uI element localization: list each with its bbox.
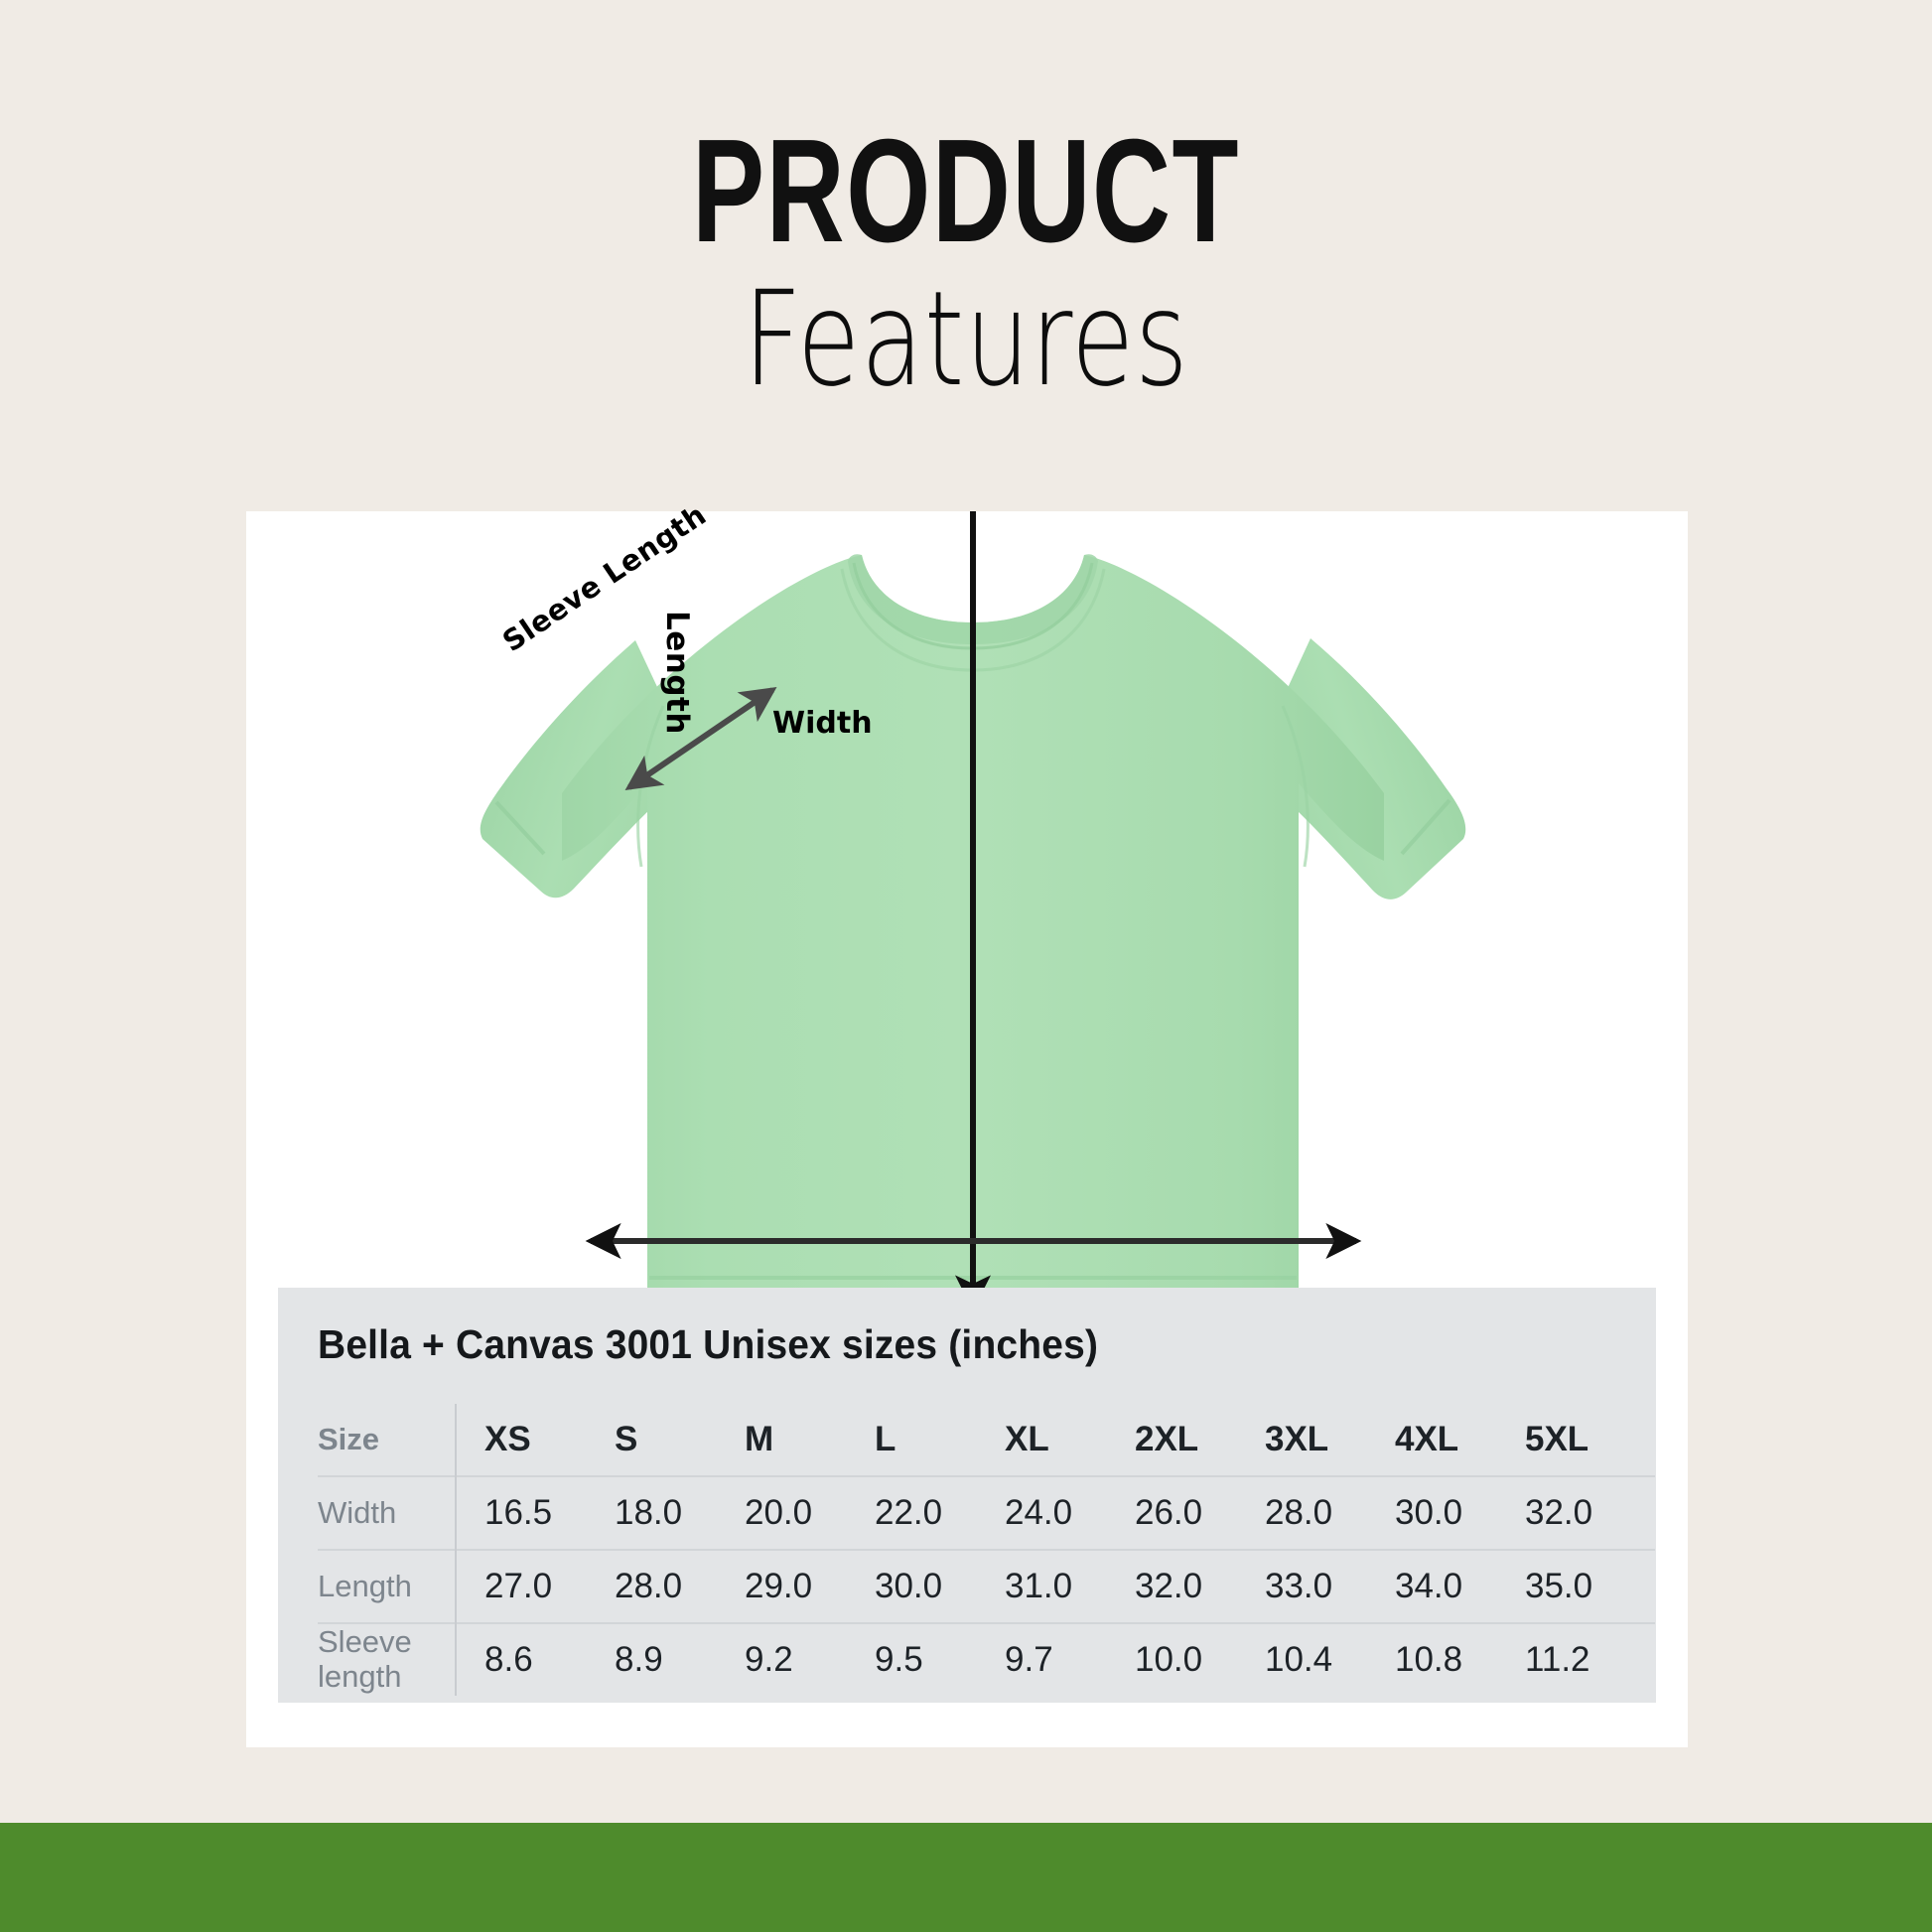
size-chart-table: Size XS S M L XL 2XL 3XL 4XL 5XL Width 1… bbox=[318, 1404, 1655, 1696]
cell-width-3xl: 28.0 bbox=[1265, 1476, 1395, 1550]
cell-width-xl: 24.0 bbox=[1005, 1476, 1135, 1550]
column-header-xl: XL bbox=[1005, 1404, 1135, 1476]
cell-length-xs: 27.0 bbox=[456, 1550, 615, 1623]
table-row: Width 16.5 18.0 20.0 22.0 24.0 26.0 28.0… bbox=[318, 1476, 1655, 1550]
cell-sleeve-xl: 9.7 bbox=[1005, 1623, 1135, 1696]
table-row: Sleeve length 8.6 8.9 9.2 9.5 9.7 10.0 1… bbox=[318, 1623, 1655, 1696]
cell-sleeve-l: 9.5 bbox=[875, 1623, 1005, 1696]
column-header-s: S bbox=[615, 1404, 745, 1476]
cell-sleeve-s: 8.9 bbox=[615, 1623, 745, 1696]
cell-length-l: 30.0 bbox=[875, 1550, 1005, 1623]
width-label: Width bbox=[772, 706, 873, 741]
cell-length-s: 28.0 bbox=[615, 1550, 745, 1623]
page-title-secondary: Features bbox=[212, 271, 1720, 409]
cell-sleeve-4xl: 10.8 bbox=[1395, 1623, 1525, 1696]
cell-width-s: 18.0 bbox=[615, 1476, 745, 1550]
tshirt-illustration bbox=[246, 511, 1688, 1288]
page-title-primary: PRODUCT bbox=[251, 119, 1681, 263]
column-header-5xl: 5XL bbox=[1525, 1404, 1655, 1476]
column-header-3xl: 3XL bbox=[1265, 1404, 1395, 1476]
table-header-row: Size XS S M L XL 2XL 3XL 4XL 5XL bbox=[318, 1404, 1655, 1476]
bottom-accent-band bbox=[0, 1823, 1932, 1932]
cell-length-2xl: 32.0 bbox=[1135, 1550, 1265, 1623]
shirt-measurement-diagram: Length Width Sleeve Length bbox=[246, 511, 1688, 1288]
cell-width-2xl: 26.0 bbox=[1135, 1476, 1265, 1550]
cell-sleeve-xs: 8.6 bbox=[456, 1623, 615, 1696]
column-header-xs: XS bbox=[456, 1404, 615, 1476]
cell-sleeve-m: 9.2 bbox=[745, 1623, 875, 1696]
cell-sleeve-3xl: 10.4 bbox=[1265, 1623, 1395, 1696]
cell-sleeve-2xl: 10.0 bbox=[1135, 1623, 1265, 1696]
page-title: PRODUCT Features bbox=[0, 119, 1932, 415]
cell-length-m: 29.0 bbox=[745, 1550, 875, 1623]
column-header-l: L bbox=[875, 1404, 1005, 1476]
cell-sleeve-5xl: 11.2 bbox=[1525, 1623, 1655, 1696]
column-header-4xl: 4XL bbox=[1395, 1404, 1525, 1476]
column-header-2xl: 2XL bbox=[1135, 1404, 1265, 1476]
cell-length-xl: 31.0 bbox=[1005, 1550, 1135, 1623]
size-chart-title: Bella + Canvas 3001 Unisex sizes (inches… bbox=[318, 1321, 1552, 1368]
column-header-size: Size bbox=[318, 1404, 456, 1476]
cell-width-5xl: 32.0 bbox=[1525, 1476, 1655, 1550]
cell-width-4xl: 30.0 bbox=[1395, 1476, 1525, 1550]
row-label-sleeve-length: Sleeve length bbox=[318, 1623, 456, 1696]
cell-length-3xl: 33.0 bbox=[1265, 1550, 1395, 1623]
table-row: Length 27.0 28.0 29.0 30.0 31.0 32.0 33.… bbox=[318, 1550, 1655, 1623]
cell-length-4xl: 34.0 bbox=[1395, 1550, 1525, 1623]
column-header-m: M bbox=[745, 1404, 875, 1476]
cell-width-m: 20.0 bbox=[745, 1476, 875, 1550]
content-card: Length Width Sleeve Length Bella + Canva… bbox=[246, 511, 1688, 1747]
cell-width-xs: 16.5 bbox=[456, 1476, 615, 1550]
length-label: Length bbox=[659, 611, 695, 735]
cell-width-l: 22.0 bbox=[875, 1476, 1005, 1550]
size-chart-panel: Bella + Canvas 3001 Unisex sizes (inches… bbox=[278, 1288, 1656, 1703]
row-label-length: Length bbox=[318, 1550, 456, 1623]
row-label-width: Width bbox=[318, 1476, 456, 1550]
cell-length-5xl: 35.0 bbox=[1525, 1550, 1655, 1623]
